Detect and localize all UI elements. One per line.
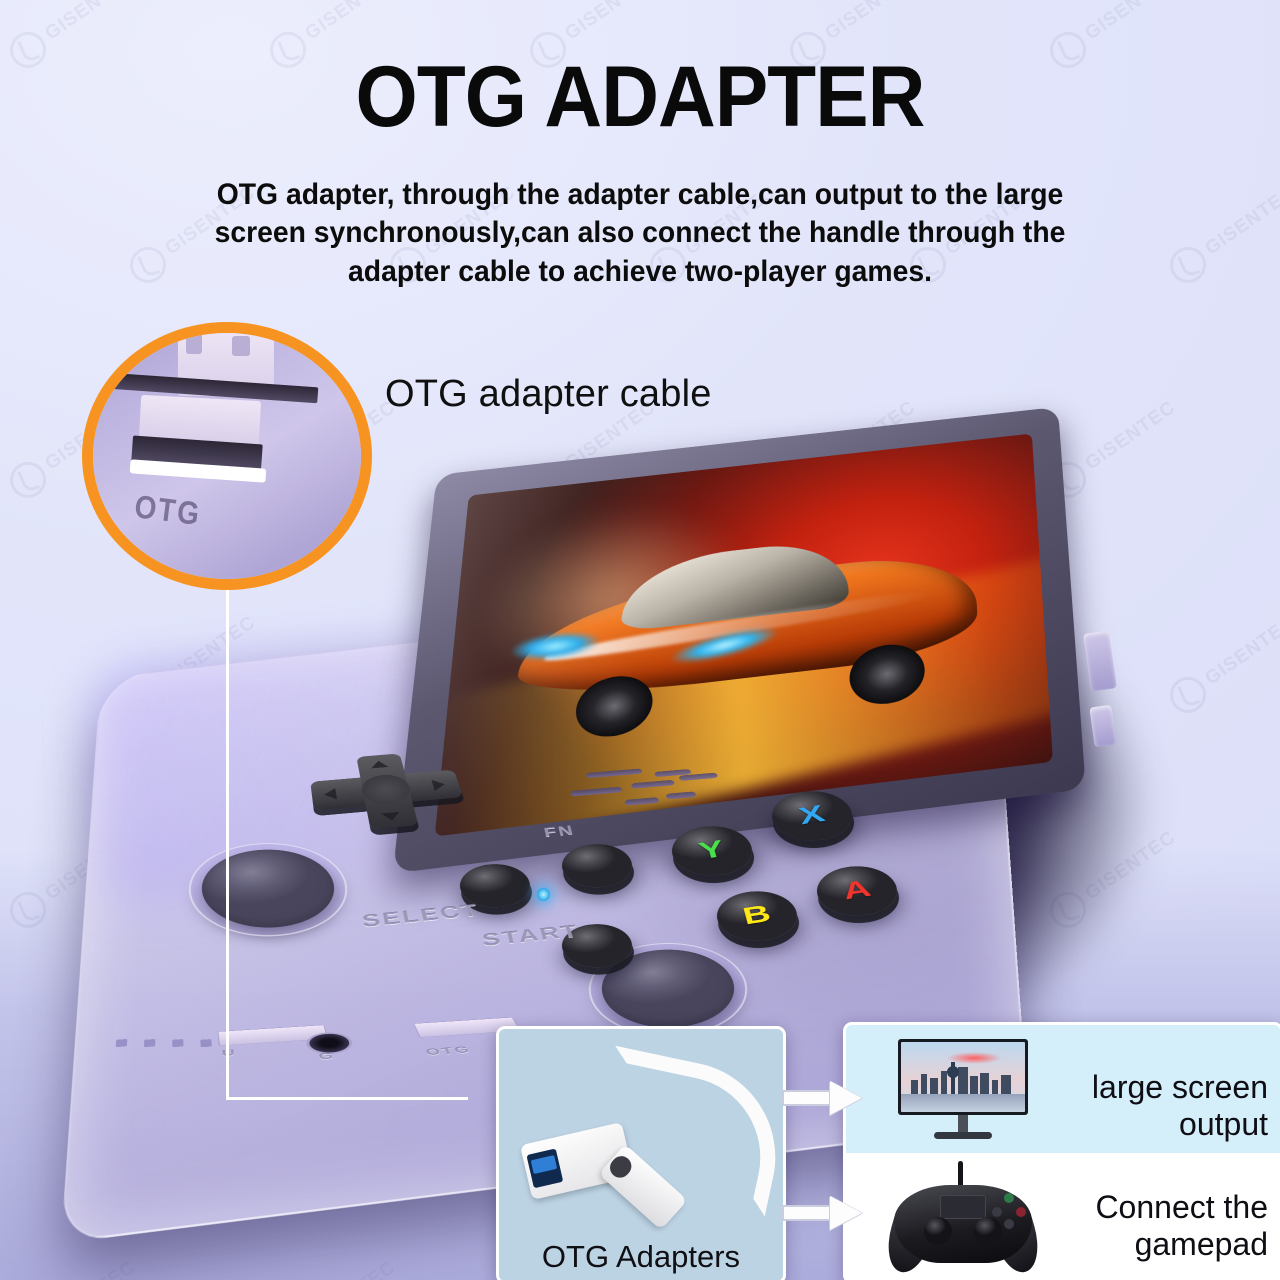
description-line-1: OTG adapter, through the adapter cable,c… (100, 176, 1179, 214)
otg-cable-image (515, 1055, 767, 1237)
side-button-lower[interactable] (1089, 705, 1116, 748)
dpad-left-icon (323, 788, 337, 800)
connect-gamepad-line2: gamepad (1095, 1226, 1268, 1263)
outputs-panel: large screen output Connect the gamepad (843, 1022, 1280, 1280)
watermark: GISENTEC (1163, 176, 1280, 290)
large-screen-output-text: large screen output (1092, 1069, 1268, 1143)
description-line-2: screen synchronously,can also connect th… (100, 214, 1179, 252)
large-screen-output-line2: output (1092, 1106, 1268, 1143)
city-skyline (901, 1062, 1025, 1094)
callout-label: OTG adapter cable (385, 373, 712, 416)
b-button-label: B (740, 900, 774, 930)
a-button-label: A (840, 875, 874, 905)
status-led (537, 888, 550, 901)
usb-port-label: U (221, 1048, 237, 1059)
otg-adapter-panel: OTG Adapters (496, 1026, 786, 1280)
monitor-icon (898, 1039, 1028, 1139)
large-screen-output-line1: large screen (1092, 1069, 1268, 1106)
dpad[interactable] (308, 750, 472, 836)
closeup-photo: OTG (82, 322, 372, 590)
dpad-up-icon (370, 760, 389, 768)
connect-gamepad-line1: Connect the (1095, 1189, 1268, 1226)
closeup-otg-text: OTG (132, 488, 286, 545)
otg-port-label: OTG (424, 1045, 473, 1058)
arrow-to-gamepad (782, 1196, 864, 1230)
left-analog-stick[interactable] (197, 845, 347, 933)
y-button-label: Y (696, 835, 728, 865)
watermark: GISENTEC (0, 176, 4, 290)
fn-label: FN (543, 823, 577, 841)
connect-gamepad-row: Connect the gamepad (846, 1153, 1280, 1280)
callout-lead-line-horizontal (226, 1097, 468, 1100)
watermark: GISENTEC (0, 606, 4, 720)
large-screen-output-row: large screen output (846, 1025, 1280, 1153)
arrow-to-large-screen (782, 1081, 864, 1115)
page-title: OTG ADAPTER (45, 48, 1235, 147)
page-description: OTG adapter, through the adapter cable,c… (100, 176, 1179, 291)
otg-adapter-caption: OTG Adapters (499, 1239, 783, 1275)
dpad-down-icon (381, 812, 401, 822)
console-screen (435, 434, 1053, 837)
description-line-3: adapter cable to achieve two-player game… (100, 253, 1179, 291)
audio-port-label: G (317, 1051, 336, 1062)
gamepad-icon (888, 1161, 1038, 1273)
otg-port-closeup-callout: OTG (82, 322, 372, 590)
side-button-upper[interactable] (1083, 630, 1117, 691)
x-button-label: X (796, 800, 828, 830)
connect-gamepad-text: Connect the gamepad (1095, 1189, 1268, 1263)
callout-lead-line-vertical (226, 588, 229, 1100)
product-infographic: GISENTECGISENTECGISENTECGISENTECGISENTEC… (0, 0, 1280, 1280)
